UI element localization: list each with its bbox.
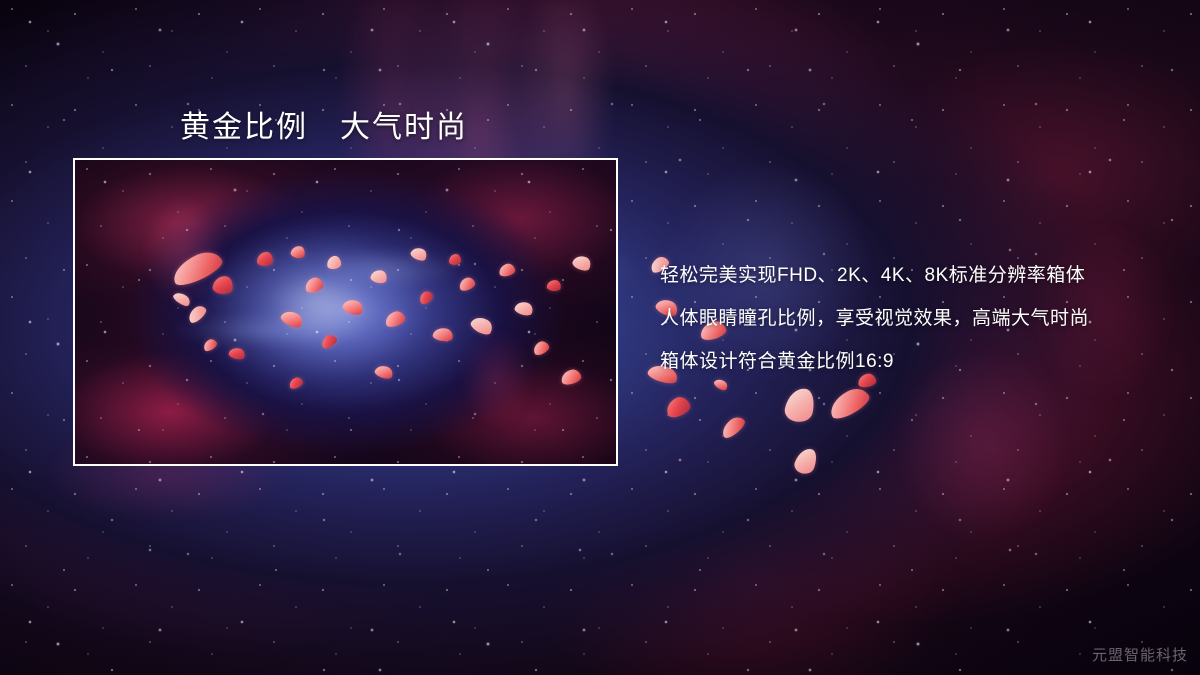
nebula-preview-image (75, 160, 616, 464)
description-line-3: 箱体设计符合黄金比例16:9 (660, 340, 1160, 383)
flower-petal-icon (718, 413, 747, 440)
slide-title: 黄金比例 大气时尚 (180, 102, 468, 146)
company-watermark: 元盟智能科技 (1092, 644, 1188, 665)
nebula-preview-frame (73, 158, 618, 466)
description-line-1: 轻松完美实现FHD、2K、4K、8K标准分辨率箱体 (660, 254, 1160, 297)
presentation-slide: 黄金比例 大气时尚 轻松完美实现FHD、2K、4K、8K标准分辨率箱体 人体眼睛… (0, 0, 1200, 675)
flower-petal-icon (825, 383, 872, 422)
preview-nebula-wisps (75, 160, 616, 464)
feature-description-block: 轻松完美实现FHD、2K、4K、8K标准分辨率箱体 人体眼睛瞳孔比例，享受视觉效… (660, 254, 1160, 383)
flower-petal-icon (783, 385, 817, 424)
flower-petal-icon (792, 445, 820, 476)
description-line-2: 人体眼睛瞳孔比例，享受视觉效果，高端大气时尚 (660, 297, 1160, 340)
flower-petal-icon (664, 394, 693, 420)
